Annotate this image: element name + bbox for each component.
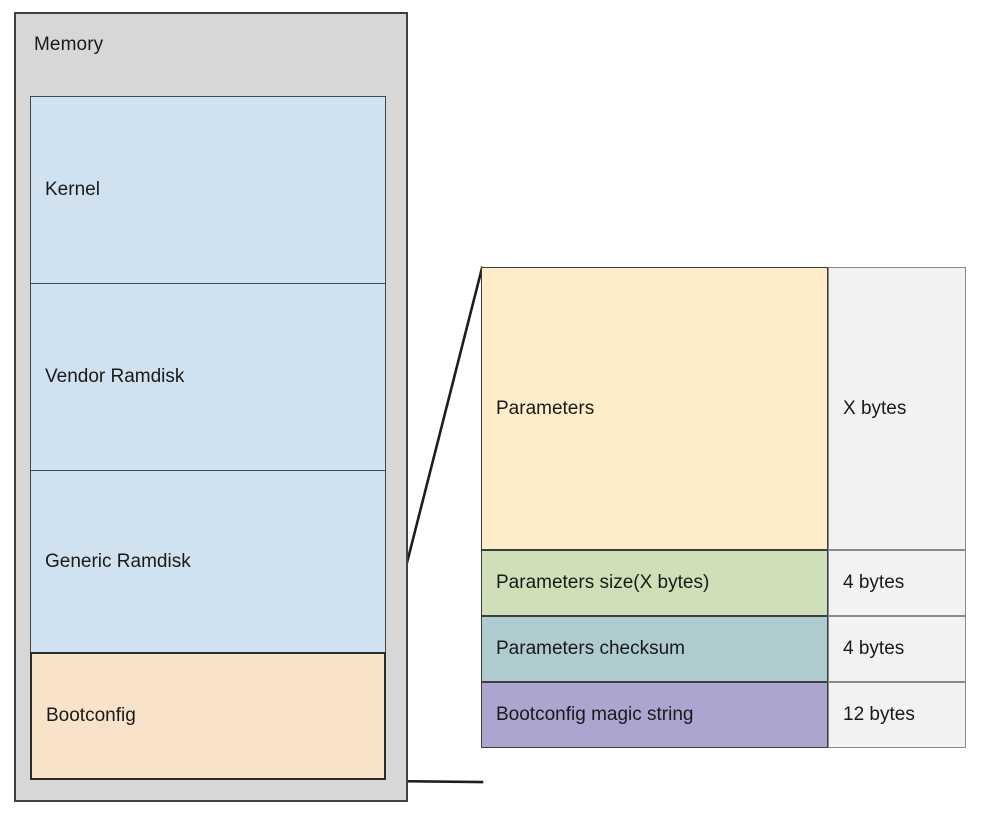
diagram-canvas: Memory Kernel Vendor Ramdisk Generic Ram… (0, 0, 984, 814)
memory-block-vendor-ramdisk[interactable]: Vendor Ramdisk (30, 283, 386, 471)
memory-block-kernel-label: Kernel (31, 179, 100, 201)
table-cell-parameters-checksum-size: 4 bytes (828, 616, 966, 682)
table-cell-bootconfig-magic-string-size-label: 12 bytes (829, 704, 915, 726)
table-cell-parameters-checksum-size-label: 4 bytes (829, 638, 904, 660)
table-row-parameters-size[interactable]: Parameters size(X bytes) 4 bytes (481, 550, 966, 616)
table-cell-parameters-checksum-name: Parameters checksum (481, 616, 828, 682)
table-cell-parameters-size-label: X bytes (829, 398, 906, 420)
table-cell-parameters-size-bytes: 4 bytes (828, 550, 966, 616)
memory-block-vendor-ramdisk-label: Vendor Ramdisk (31, 366, 184, 388)
table-cell-parameters-name: Parameters (481, 267, 828, 550)
memory-block-generic-ramdisk-label: Generic Ramdisk (31, 551, 191, 573)
memory-title: Memory (34, 34, 103, 56)
table-cell-bootconfig-magic-string-size: 12 bytes (828, 682, 966, 748)
memory-block-generic-ramdisk[interactable]: Generic Ramdisk (30, 470, 386, 653)
memory-block-kernel[interactable]: Kernel (30, 96, 386, 284)
table-cell-parameters-size-name-label: Parameters size(X bytes) (482, 572, 709, 594)
table-cell-parameters-size: X bytes (828, 267, 966, 550)
bootconfig-layout-table: Parameters X bytes Parameters size(X byt… (481, 267, 966, 783)
table-cell-parameters-checksum-label: Parameters checksum (482, 638, 685, 660)
table-row-parameters-checksum[interactable]: Parameters checksum 4 bytes (481, 616, 966, 682)
memory-block-bootconfig-label: Bootconfig (32, 705, 136, 727)
table-row-bootconfig-magic-string[interactable]: Bootconfig magic string 12 bytes (481, 682, 966, 748)
table-cell-parameters-size-bytes-label: 4 bytes (829, 572, 904, 594)
table-cell-parameters-label: Parameters (482, 398, 594, 420)
table-cell-bootconfig-magic-string-name: Bootconfig magic string (481, 682, 828, 748)
memory-block-bootconfig[interactable]: Bootconfig (30, 652, 386, 780)
table-cell-parameters-size-name: Parameters size(X bytes) (481, 550, 828, 616)
table-row-parameters[interactable]: Parameters X bytes (481, 267, 966, 550)
table-cell-bootconfig-magic-string-label: Bootconfig magic string (482, 704, 694, 726)
